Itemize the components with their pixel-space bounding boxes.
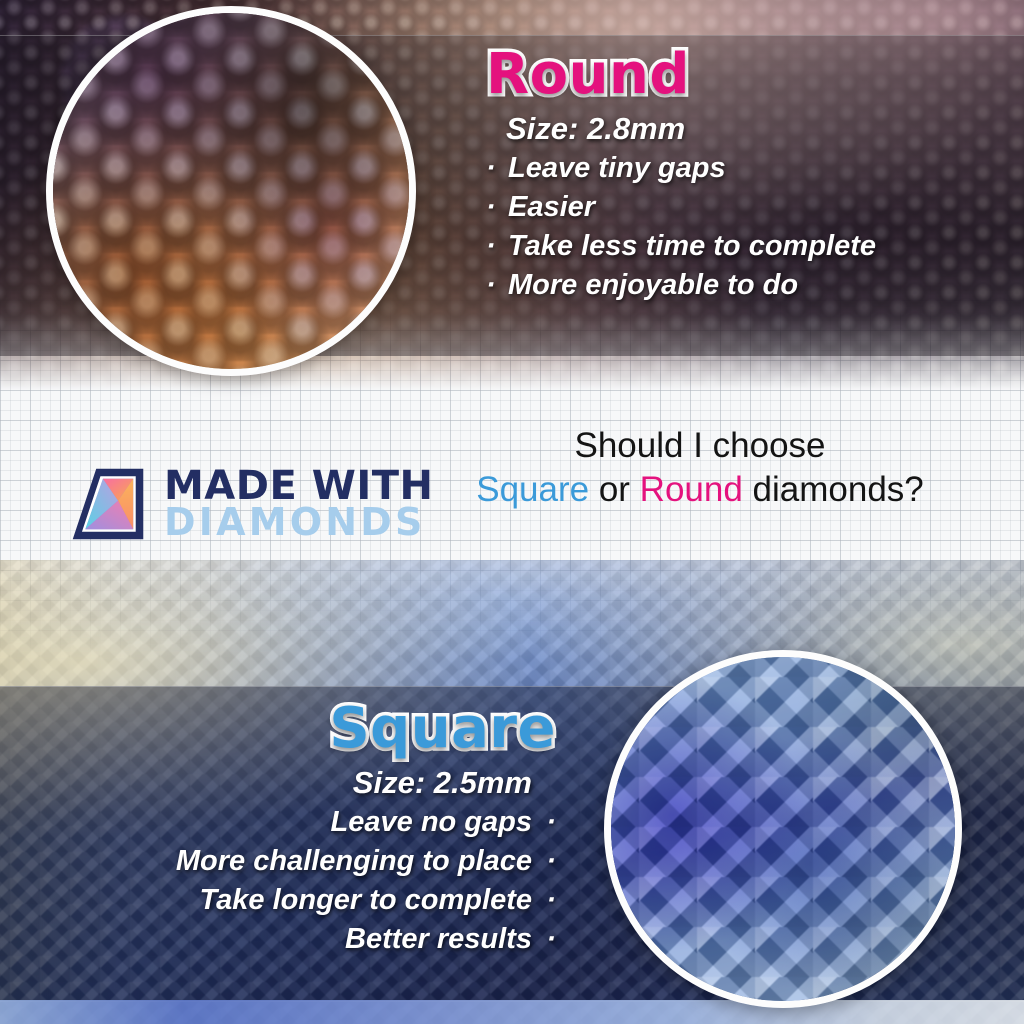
square-size-label: Size: 2.5mm <box>0 765 556 801</box>
list-item: Better results· <box>0 920 556 959</box>
question-line-2: Square or Round diamonds? <box>420 468 980 512</box>
square-magnifier-circle <box>604 650 962 1008</box>
bullet-icon: · <box>486 227 508 266</box>
square-title: Square <box>0 700 556 757</box>
bullet-icon: · <box>532 803 556 842</box>
question-line-1: Should I choose <box>420 424 980 468</box>
round-feature-text: More enjoyable to do <box>508 269 798 301</box>
square-feature-text: Better results <box>345 923 532 955</box>
round-size-label: Size: 2.8mm <box>486 111 1016 147</box>
bullet-icon: · <box>486 149 508 188</box>
logo-wordmark: MADE WITH DIAMONDS <box>164 468 433 540</box>
brand-logo: MADE WITH DIAMONDS <box>66 462 433 546</box>
keyword-square: Square <box>476 470 589 509</box>
list-item: ·Easier <box>486 188 1016 227</box>
list-item: ·Leave tiny gaps <box>486 149 1016 188</box>
bullet-icon: · <box>532 920 556 959</box>
square-feature-text: Leave no gaps <box>331 806 532 838</box>
list-item: ·More enjoyable to do <box>486 266 1016 305</box>
question-conjunction: or <box>589 470 640 509</box>
round-feature-text: Easier <box>508 191 595 223</box>
question-tail: diamonds? <box>743 470 924 509</box>
round-feature-list: ·Leave tiny gaps ·Easier ·Take less time… <box>486 149 1016 304</box>
round-title: Round <box>486 46 1016 103</box>
square-lens-color-tint <box>611 657 955 1001</box>
center-question: Should I choose Square or Round diamonds… <box>420 424 980 512</box>
bullet-icon: · <box>486 188 508 227</box>
round-lens-color-tint <box>53 13 409 369</box>
square-info-block: Square Size: 2.5mm Leave no gaps· More c… <box>0 700 556 959</box>
infographic-canvas: Round Size: 2.8mm ·Leave tiny gaps ·Easi… <box>0 0 1024 1024</box>
bullet-icon: · <box>532 842 556 881</box>
round-magnifier-circle <box>46 6 416 376</box>
list-item: Take longer to complete· <box>0 881 556 920</box>
list-item: More challenging to place· <box>0 842 556 881</box>
round-info-block: Round Size: 2.8mm ·Leave tiny gaps ·Easi… <box>486 46 1016 305</box>
square-feature-text: More challenging to place <box>176 845 532 877</box>
keyword-round: Round <box>640 470 743 509</box>
round-feature-text: Take less time to complete <box>508 230 876 262</box>
bullet-icon: · <box>532 881 556 920</box>
bullet-icon: · <box>486 266 508 305</box>
bottom-edge-strip <box>0 1000 1024 1024</box>
logo-line-diamonds: DIAMONDS <box>164 505 433 540</box>
list-item: ·Take less time to complete <box>486 227 1016 266</box>
square-feature-text: Take longer to complete <box>200 884 533 916</box>
round-feature-text: Leave tiny gaps <box>508 152 726 184</box>
list-item: Leave no gaps· <box>0 803 556 842</box>
diamond-logo-mark <box>66 462 150 546</box>
square-feature-list: Leave no gaps· More challenging to place… <box>0 803 556 958</box>
